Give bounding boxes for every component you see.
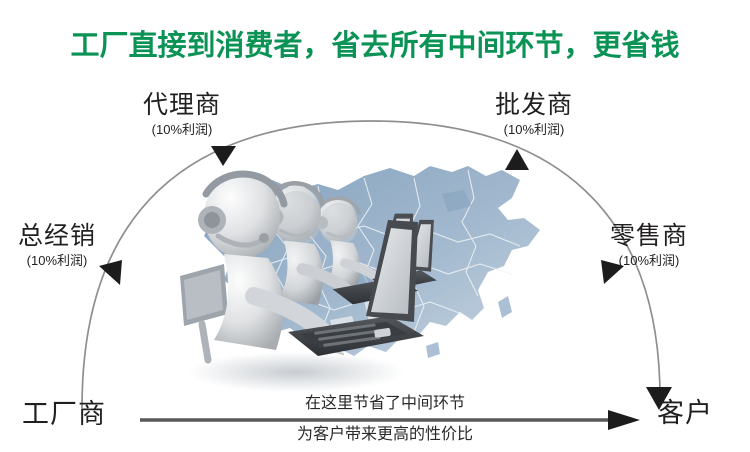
page-title: 工厂直接到消费者，省去所有中间环节，更省钱 bbox=[0, 32, 750, 61]
node-wholesaler-margin: (10%利润) bbox=[495, 123, 573, 136]
node-general-distributor-label: 总经销 bbox=[18, 224, 96, 249]
shortcut-caption-top: 在这里节省了中间环节 bbox=[235, 396, 535, 412]
node-agent-margin: (10%利润) bbox=[143, 123, 221, 136]
node-agent: 代理商 (10%利润) bbox=[143, 93, 221, 136]
promo-banner: 工厂直接到消费者，省去所有中间环节，更省钱 bbox=[0, 0, 750, 452]
artwork-illustration bbox=[168, 150, 588, 400]
node-wholesaler: 批发商 (10%利润) bbox=[495, 93, 573, 136]
arrow-to-general-distributor bbox=[99, 260, 122, 285]
node-general-distributor: 总经销 (10%利润) bbox=[18, 224, 96, 267]
node-general-distributor-margin: (10%利润) bbox=[18, 254, 96, 267]
node-retailer: 零售商 (10%利润) bbox=[610, 224, 688, 267]
node-retailer-label: 零售商 bbox=[610, 224, 688, 249]
node-retailer-margin: (10%利润) bbox=[610, 254, 688, 267]
node-client: 客户 bbox=[657, 400, 713, 427]
node-wholesaler-label: 批发商 bbox=[495, 93, 573, 118]
node-agent-label: 代理商 bbox=[143, 93, 221, 118]
node-factory: 工厂商 bbox=[22, 401, 106, 428]
shortcut-caption-bottom: 为客户带来更高的性价比 bbox=[235, 427, 535, 443]
